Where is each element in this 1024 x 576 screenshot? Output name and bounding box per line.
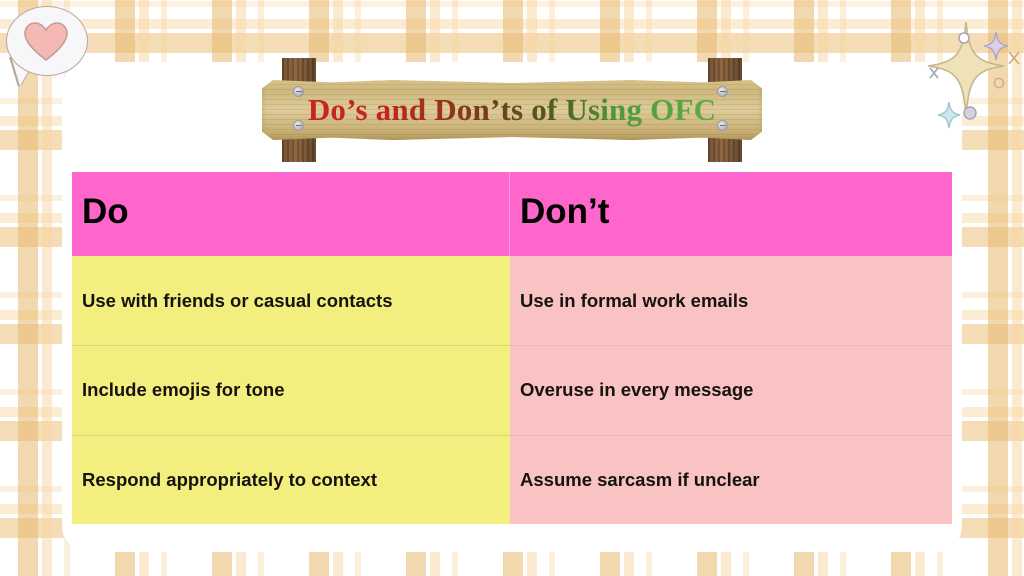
small-circle-icon	[994, 78, 1003, 87]
wooden-sign: Do’s and Don’ts of Using OFC	[262, 58, 762, 162]
table-cell-do: Use with friends or casual contacts	[72, 256, 510, 345]
page-title: Do’s and Don’ts of Using OFC	[262, 80, 762, 140]
table-cell-dont: Overuse in every message	[510, 345, 952, 434]
screw-icon	[293, 120, 304, 131]
dos-and-donts-table: Do Don’t Use with friends or casual cont…	[72, 172, 952, 524]
screw-icon	[717, 120, 728, 131]
table-cell-do: Include emojis for tone	[72, 345, 510, 434]
small-circle-icon	[959, 33, 969, 43]
cyan-sparkle-icon	[938, 102, 960, 128]
cross-spark-icon	[1009, 52, 1019, 64]
table-header-do: Do	[72, 172, 510, 256]
screw-icon	[293, 86, 304, 97]
table-cell-dont: Assume sarcasm if unclear	[510, 435, 952, 524]
table-cell-dont: Use in formal work emails	[510, 256, 952, 345]
cross-spark-icon	[930, 68, 938, 78]
table-cell-do: Respond appropriately to context	[72, 435, 510, 524]
heart-icon	[24, 22, 68, 62]
speech-bubble-icon	[2, 4, 94, 106]
table-header-dont: Don’t	[510, 172, 952, 256]
small-circle-icon	[964, 107, 976, 119]
sparkle-cluster-icon	[908, 4, 1024, 144]
screw-icon	[717, 86, 728, 97]
purple-sparkle-icon	[984, 32, 1008, 60]
slide-canvas: Do’s and Don’ts of Using OFC Do Don’t Us…	[0, 0, 1024, 576]
